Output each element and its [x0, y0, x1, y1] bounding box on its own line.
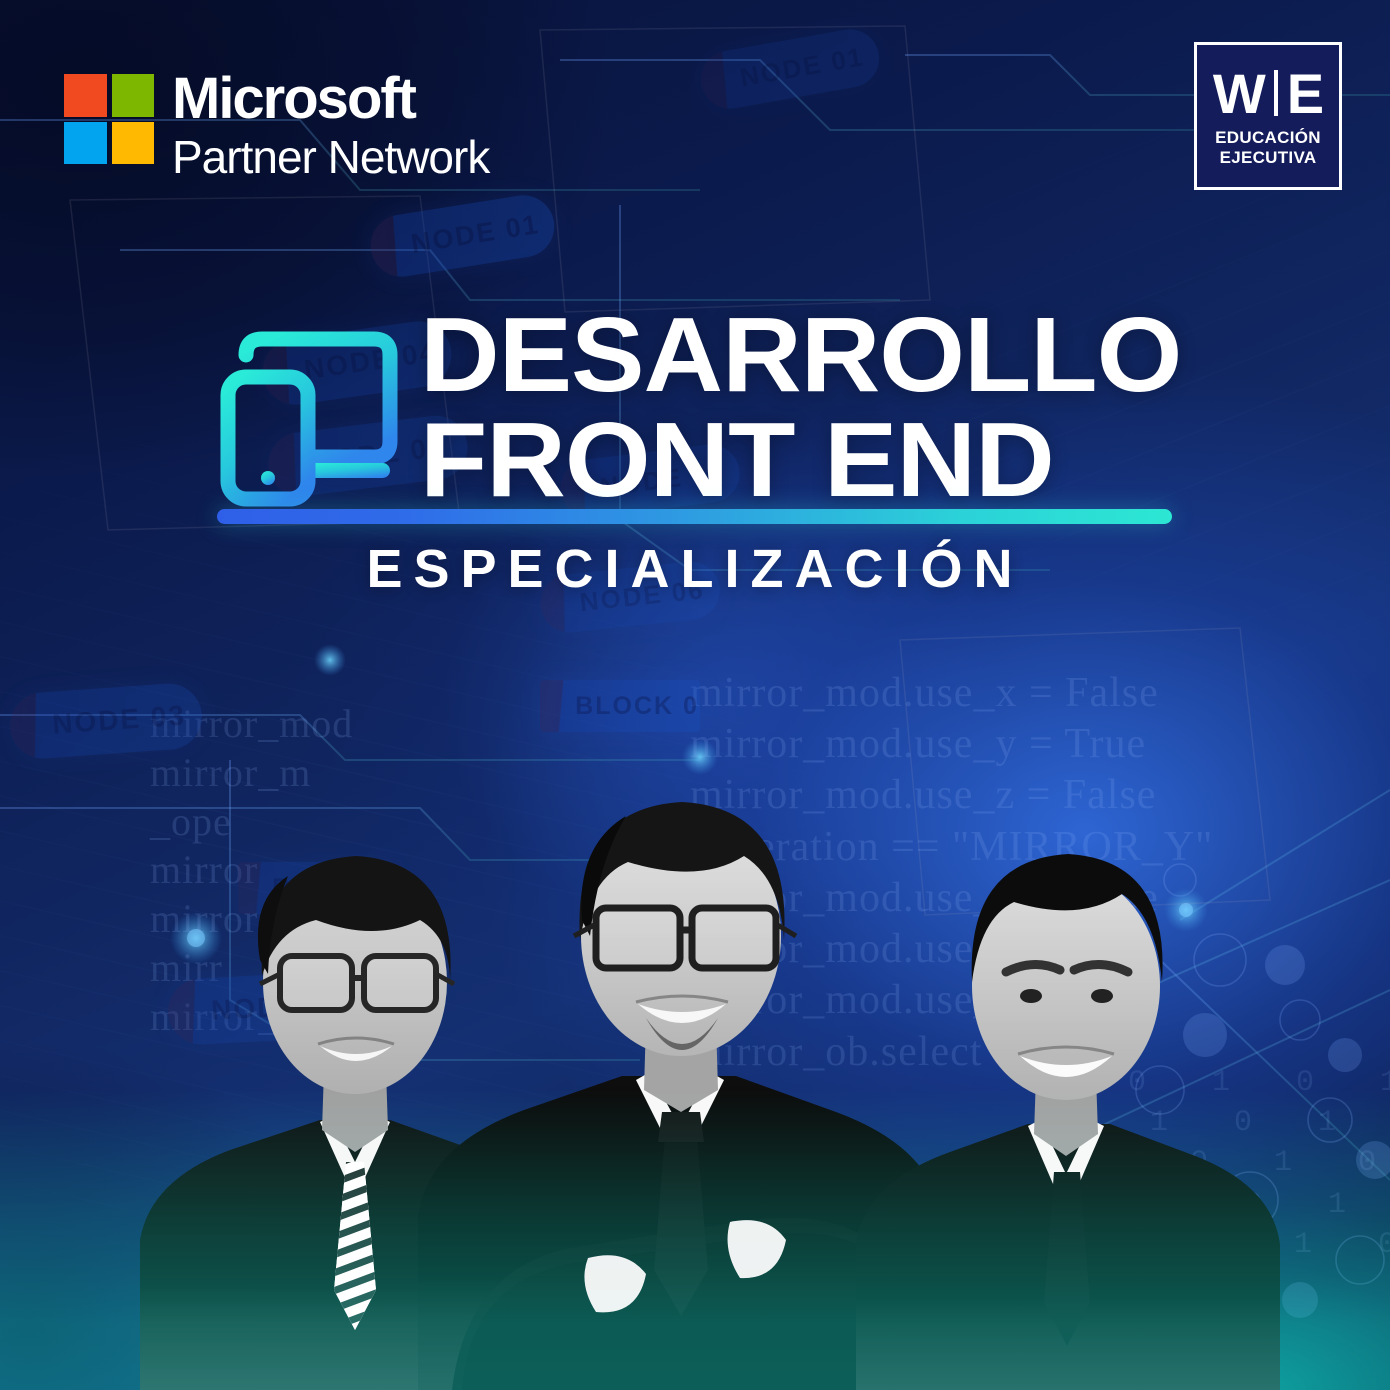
we-monogram: W E [1213, 68, 1323, 120]
hero-title-line-1: DESARROLLO [420, 306, 1210, 405]
microsoft-square-green [112, 74, 155, 117]
we-letter-w: W [1213, 68, 1265, 120]
microsoft-square-blue [64, 122, 107, 165]
promo-poster: mirror_mod.use_x = False mirror_mod.use_… [0, 0, 1390, 1390]
background-node-chip: NODE 01 [696, 25, 883, 113]
we-tagline-line1: EDUCACIÓN [1215, 128, 1321, 148]
microsoft-partner-network-logo: Microsoft Partner Network [64, 70, 489, 180]
background-node-chip-label: BLOCK 01 [540, 692, 700, 721]
we-tagline-line2: EJECUTIVA [1215, 148, 1321, 168]
speaker-right-photo [830, 790, 1300, 1390]
we-tagline: EDUCACIÓN EJECUTIVA [1215, 128, 1321, 168]
hero-subtitle: ESPECIALIZACIÓN [0, 538, 1390, 600]
background-node-chip: NODE 03 [8, 681, 204, 760]
microsoft-wordmark: Microsoft Partner Network [172, 70, 489, 180]
background-node-chip-label: NODE 01 [699, 41, 867, 100]
we-divider-bar [1274, 70, 1278, 116]
we-letter-e: E [1287, 68, 1323, 120]
microsoft-name: Microsoft [172, 70, 489, 128]
microsoft-square-red [64, 74, 107, 117]
background-node-chip-label: NODE 03 [9, 699, 187, 743]
background-node-chip: BLOCK 01 [540, 680, 700, 732]
hero-title-line-2: FRONT END [420, 411, 1210, 510]
hero-accent-rule [217, 509, 1172, 524]
hero-title: DESARROLLO FRONT END [420, 306, 1180, 509]
we-educacion-ejecutiva-logo: W E EDUCACIÓN EJECUTIVA [1194, 42, 1342, 190]
background-node-chip-label: NODE 01 [369, 209, 542, 266]
microsoft-squares-icon [64, 74, 154, 164]
partner-network-name: Partner Network [172, 134, 489, 180]
instructors-photo-group [0, 750, 1390, 1390]
background-node-chip: NODE 01 [366, 191, 558, 281]
responsive-devices-icon [216, 325, 411, 510]
microsoft-square-yellow [112, 122, 155, 165]
